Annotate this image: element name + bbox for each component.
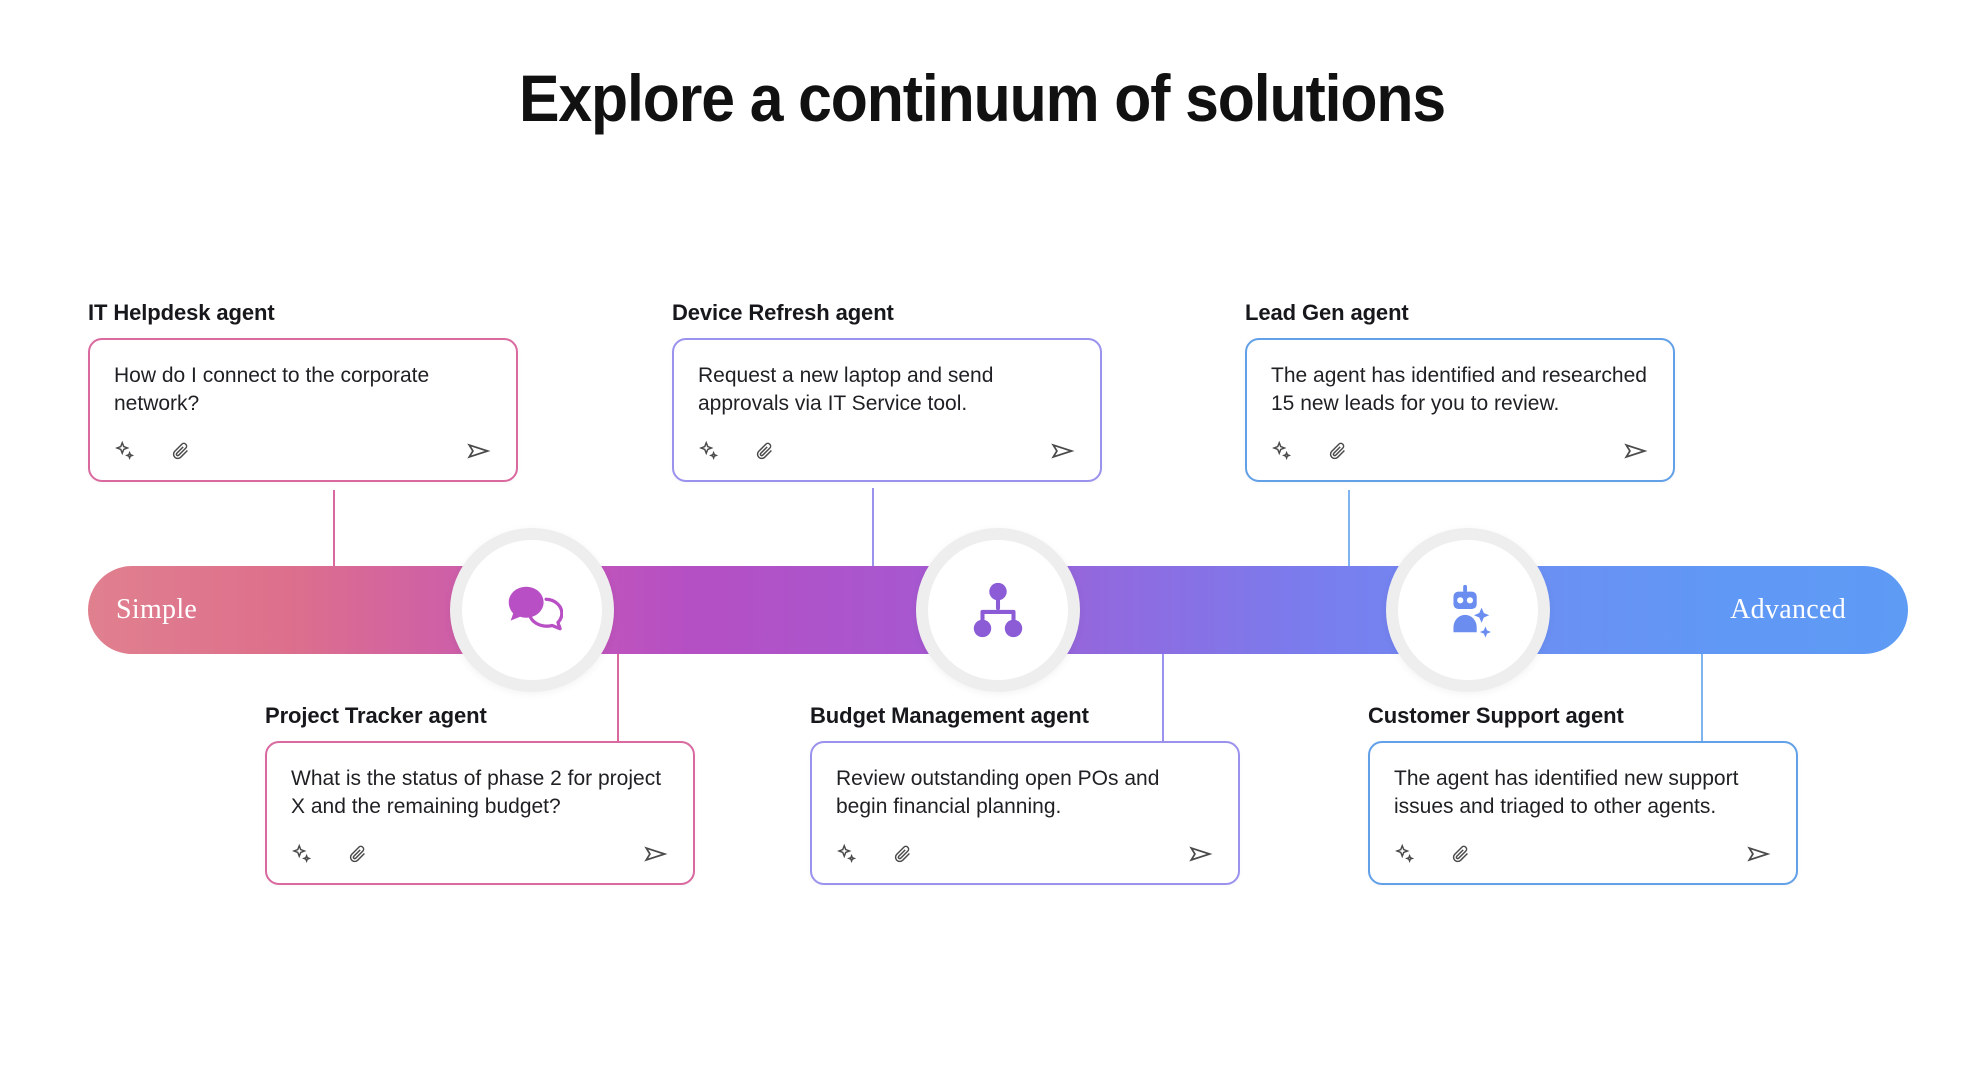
paperclip-icon[interactable] xyxy=(170,440,192,462)
send-icon[interactable] xyxy=(1746,841,1772,867)
card-action-row xyxy=(698,438,1076,464)
paperclip-icon[interactable] xyxy=(892,843,914,865)
card-group-budget-management: Budget Management agent Review outstandi… xyxy=(810,703,1240,885)
card-label: Device Refresh agent xyxy=(672,300,1102,326)
card-text: The agent has identified new support iss… xyxy=(1394,765,1772,823)
sparkle-icon[interactable] xyxy=(1394,843,1416,865)
send-icon[interactable] xyxy=(1188,841,1214,867)
agent-card[interactable]: Request a new laptop and send approvals … xyxy=(672,338,1102,482)
sparkle-icon[interactable] xyxy=(1271,440,1293,462)
card-text: Request a new laptop and send approvals … xyxy=(698,362,1076,420)
paperclip-icon[interactable] xyxy=(347,843,369,865)
paperclip-icon[interactable] xyxy=(1327,440,1349,462)
continuum-node-hierarchy[interactable] xyxy=(916,528,1080,692)
card-action-row xyxy=(836,841,1214,867)
continuum-label-simple: Simple xyxy=(116,594,197,626)
card-group-lead-gen: Lead Gen agent The agent has identified … xyxy=(1245,300,1675,482)
card-label: Customer Support agent xyxy=(1368,703,1798,729)
card-text: The agent has identified and researched … xyxy=(1271,362,1649,420)
sparkle-icon[interactable] xyxy=(836,843,858,865)
agent-card[interactable]: How do I connect to the corporate networ… xyxy=(88,338,518,482)
card-label: Project Tracker agent xyxy=(265,703,695,729)
agent-card[interactable]: Review outstanding open POs and begin fi… xyxy=(810,741,1240,885)
card-group-project-tracker: Project Tracker agent What is the status… xyxy=(265,703,695,885)
slide-canvas: Explore a continuum of solutions Simple … xyxy=(0,0,1964,1070)
paperclip-icon[interactable] xyxy=(1450,843,1472,865)
sparkle-icon[interactable] xyxy=(114,440,136,462)
agent-card[interactable]: The agent has identified and researched … xyxy=(1245,338,1675,482)
card-action-row xyxy=(114,438,492,464)
card-action-row xyxy=(291,841,669,867)
card-group-it-helpdesk: IT Helpdesk agent How do I connect to th… xyxy=(88,300,518,482)
card-label: Budget Management agent xyxy=(810,703,1240,729)
send-icon[interactable] xyxy=(466,438,492,464)
send-icon[interactable] xyxy=(1050,438,1076,464)
continuum-label-advanced: Advanced xyxy=(1730,594,1846,626)
card-label: Lead Gen agent xyxy=(1245,300,1675,326)
card-action-row xyxy=(1271,438,1649,464)
send-icon[interactable] xyxy=(643,841,669,867)
hierarchy-icon xyxy=(967,579,1029,641)
chat-bubbles-icon xyxy=(501,579,563,641)
card-label: IT Helpdesk agent xyxy=(88,300,518,326)
agent-card[interactable]: The agent has identified new support iss… xyxy=(1368,741,1798,885)
card-text: Review outstanding open POs and begin fi… xyxy=(836,765,1214,823)
card-group-customer-support: Customer Support agent The agent has ide… xyxy=(1368,703,1798,885)
continuum-node-robot[interactable] xyxy=(1386,528,1550,692)
agent-card[interactable]: What is the status of phase 2 for projec… xyxy=(265,741,695,885)
sparkle-icon[interactable] xyxy=(698,440,720,462)
sparkle-icon[interactable] xyxy=(291,843,313,865)
card-action-row xyxy=(1394,841,1772,867)
continuum-node-chat[interactable] xyxy=(450,528,614,692)
card-text: How do I connect to the corporate networ… xyxy=(114,362,492,420)
send-icon[interactable] xyxy=(1623,438,1649,464)
page-title: Explore a continuum of solutions xyxy=(79,60,1886,136)
card-text: What is the status of phase 2 for projec… xyxy=(291,765,669,823)
paperclip-icon[interactable] xyxy=(754,440,776,462)
robot-sparkle-icon xyxy=(1437,579,1499,641)
card-group-device-refresh: Device Refresh agent Request a new lapto… xyxy=(672,300,1102,482)
